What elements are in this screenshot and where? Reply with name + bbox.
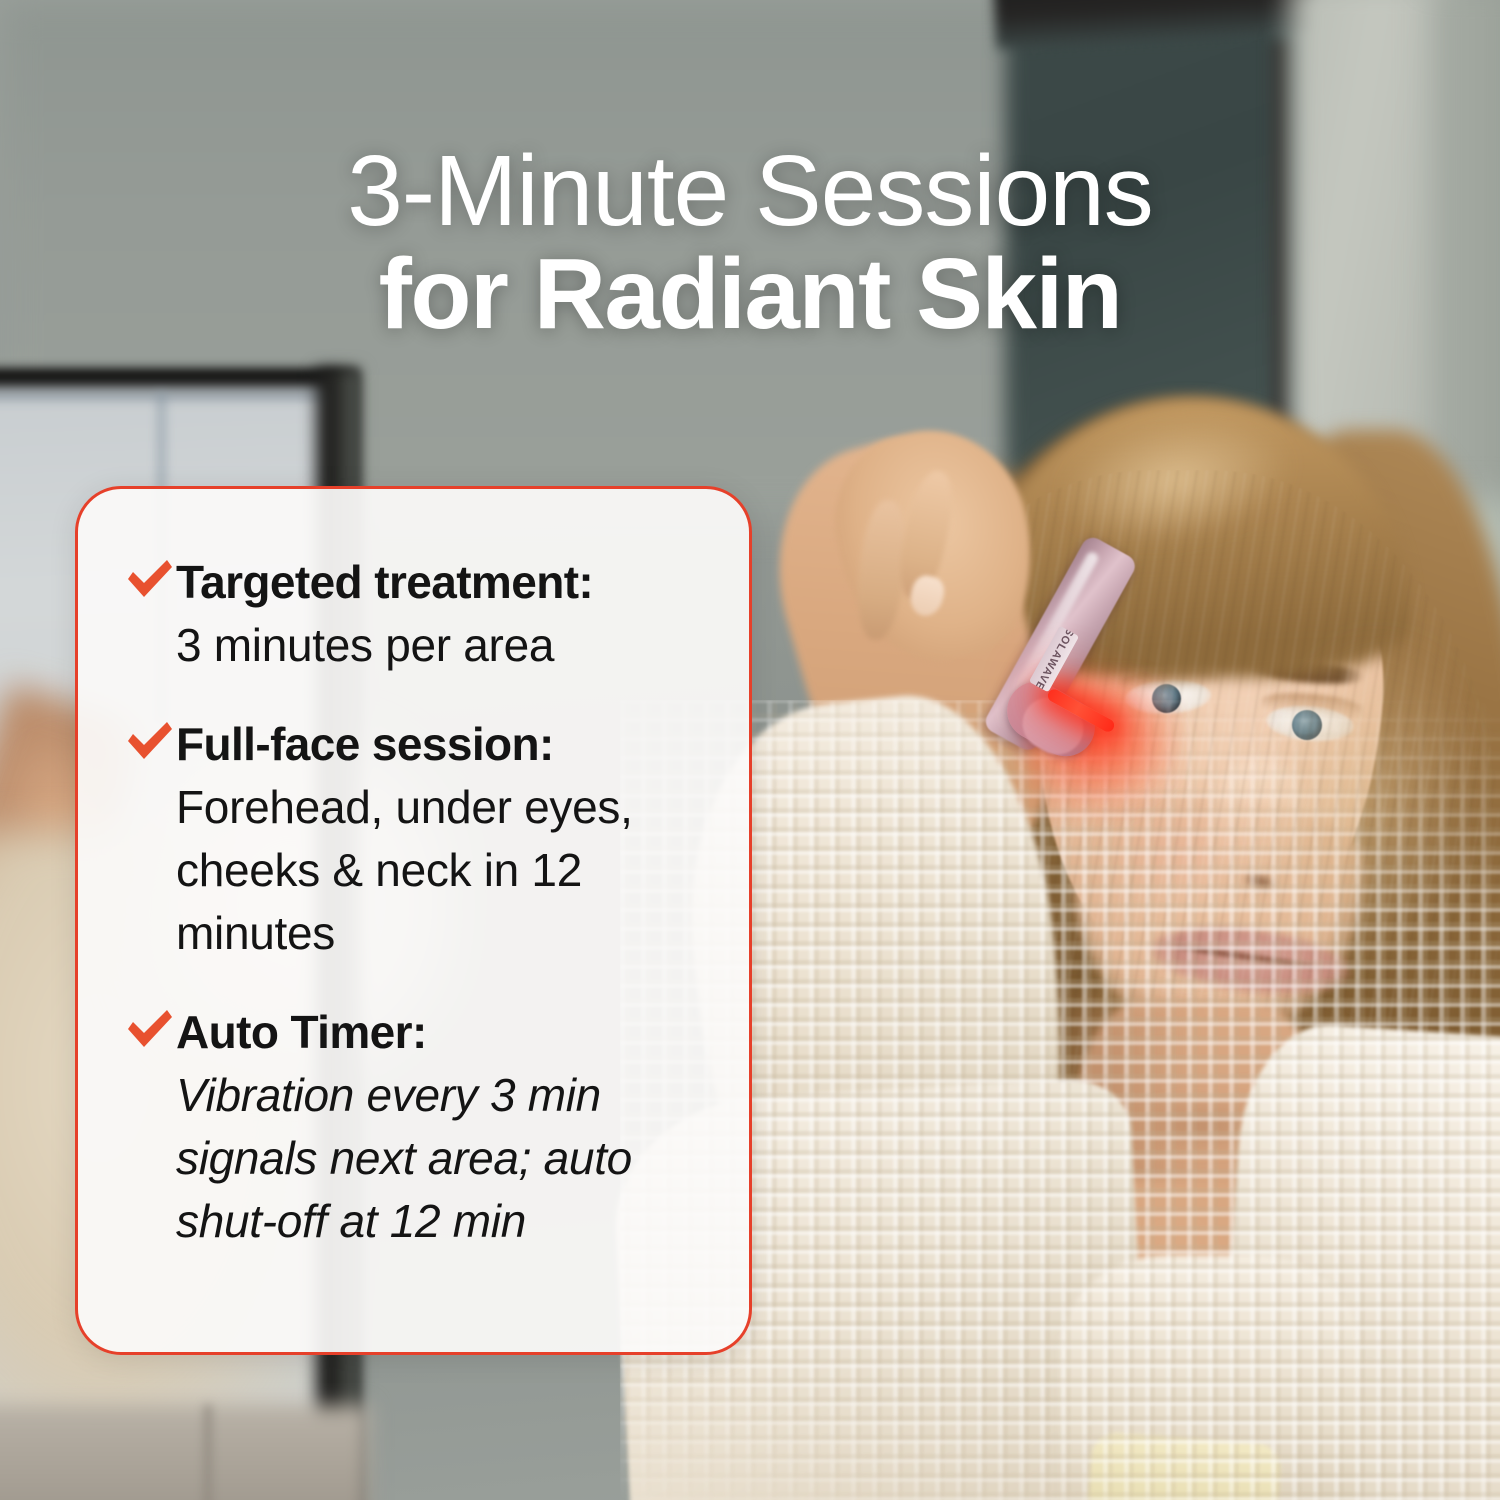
checkmark-icon (124, 557, 176, 603)
list-item-title: Targeted treatment: (176, 551, 721, 614)
product-feature-graphic: SOLAWAVE 3-Minute Sessions for Radiant S… (0, 0, 1500, 1500)
checkmark-icon (124, 719, 176, 765)
list-item: Targeted treatment: 3 minutes per area (124, 551, 721, 677)
list-item: Full-face session: Forehead, under eyes,… (124, 713, 721, 965)
list-item-body: Forehead, under eyes, cheeks & neck in 1… (176, 776, 721, 965)
checkmark-icon (124, 1007, 176, 1053)
list-item-title: Auto Timer: (176, 1001, 721, 1064)
waffle-knit-texture (620, 700, 1500, 1500)
list-item-title: Full-face session: (176, 713, 721, 776)
headline-line-2: for Radiant Skin (0, 242, 1500, 346)
feature-list: Targeted treatment: 3 minutes per area F… (124, 551, 721, 1253)
list-item: Auto Timer: Vibration every 3 min signal… (124, 1001, 721, 1253)
page-title: 3-Minute Sessions for Radiant Skin (0, 140, 1500, 346)
list-item-body: Vibration every 3 min signals next area;… (176, 1064, 721, 1253)
headline-line-1: 3-Minute Sessions (0, 140, 1500, 242)
list-item-body: 3 minutes per area (176, 614, 721, 677)
list-item-text: Auto Timer: Vibration every 3 min signal… (176, 1001, 721, 1253)
list-item-text: Targeted treatment: 3 minutes per area (176, 551, 721, 677)
feature-card: Targeted treatment: 3 minutes per area F… (75, 486, 752, 1355)
list-item-text: Full-face session: Forehead, under eyes,… (176, 713, 721, 965)
